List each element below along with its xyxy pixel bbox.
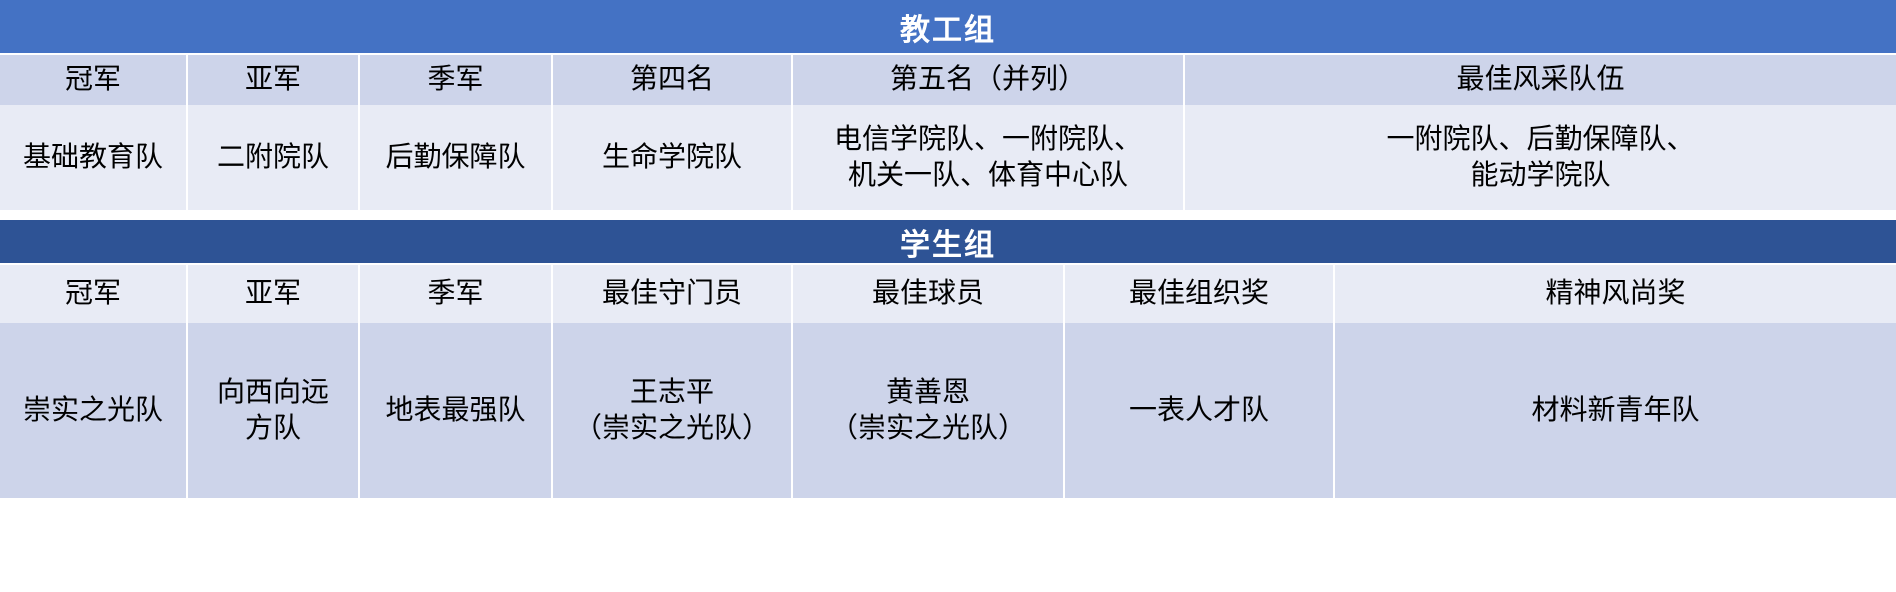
staff-group-banner: 教工组 (0, 0, 1896, 55)
student-col-header-best-goalkeeper: 最佳守门员 (553, 265, 793, 323)
staff-col-header-third-place: 季军 (360, 55, 553, 105)
staff-value-best-style-team: 一附院队、后勤保障队、 能动学院队 (1185, 105, 1896, 210)
staff-col-header-runner-up: 亚军 (188, 55, 360, 105)
student-col-header-runner-up: 亚军 (188, 265, 360, 323)
student-value-best-goalkeeper: 王志平 （崇实之光队） (553, 323, 793, 498)
staff-col-header-champion: 冠军 (0, 55, 188, 105)
student-value-runner-up: 向西向远 方队 (188, 323, 360, 498)
student-data-row: 崇实之光队 向西向远 方队 地表最强队 王志平 （崇实之光队） 黄善恩 （崇实之… (0, 323, 1896, 498)
staff-value-champion: 基础教育队 (0, 105, 188, 210)
student-col-header-sportsmanship: 精神风尚奖 (1335, 265, 1896, 323)
staff-header-row: 冠军 亚军 季军 第四名 第五名（并列） 最佳风采队伍 (0, 55, 1896, 105)
student-col-header-best-player: 最佳球员 (793, 265, 1065, 323)
staff-value-fifth-place-tie: 电信学院队、一附院队、 机关一队、体育中心队 (793, 105, 1185, 210)
student-value-best-organizer: 一表人才队 (1065, 323, 1335, 498)
student-col-header-champion: 冠军 (0, 265, 188, 323)
staff-col-header-best-style-team: 最佳风采队伍 (1185, 55, 1896, 105)
staff-value-fourth-place: 生命学院队 (553, 105, 793, 210)
section-divider (0, 210, 1896, 218)
staff-value-third-place: 后勤保障队 (360, 105, 553, 210)
student-col-header-best-organizer: 最佳组织奖 (1065, 265, 1335, 323)
staff-col-header-fourth-place: 第四名 (553, 55, 793, 105)
staff-value-runner-up: 二附院队 (188, 105, 360, 210)
student-value-third-place: 地表最强队 (360, 323, 553, 498)
student-value-champion: 崇实之光队 (0, 323, 188, 498)
student-value-best-player: 黄善恩 （崇实之光队） (793, 323, 1065, 498)
staff-col-header-fifth-place-tie: 第五名（并列） (793, 55, 1185, 105)
student-header-row: 冠军 亚军 季军 最佳守门员 最佳球员 最佳组织奖 精神风尚奖 (0, 265, 1896, 323)
award-tables: 教工组 冠军 亚军 季军 第四名 第五名（并列） 最佳风采队伍 基础教育队 二附… (0, 0, 1896, 592)
student-value-sportsmanship: 材料新青年队 (1335, 323, 1896, 498)
student-group-banner: 学生组 (0, 218, 1896, 265)
staff-data-row: 基础教育队 二附院队 后勤保障队 生命学院队 电信学院队、一附院队、 机关一队、… (0, 105, 1896, 210)
student-col-header-third-place: 季军 (360, 265, 553, 323)
